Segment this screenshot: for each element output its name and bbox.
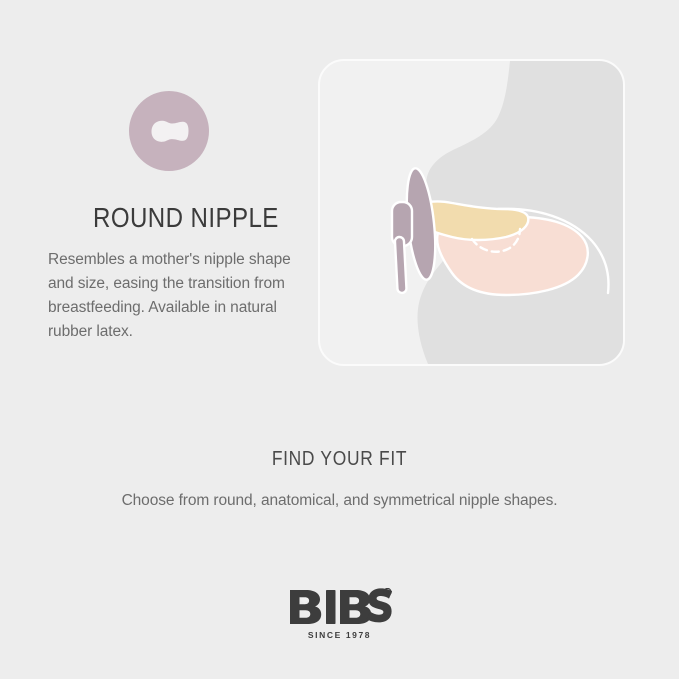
bibs-logo: R SINCE 1978 — [0, 588, 679, 640]
find-your-fit-subtext: Choose from round, anatomical, and symme… — [0, 492, 679, 510]
feature-title: ROUND NIPPLE — [93, 203, 279, 233]
round-nipple-cross-section-icon — [129, 91, 209, 171]
find-your-fit-heading: FIND YOUR FIT — [44, 448, 635, 471]
illustration-card — [318, 59, 625, 366]
heart-icon — [301, 598, 308, 604]
logo-tagline: SINCE 1978 — [308, 630, 371, 640]
feature-description: Resembles a mother's nipple shape and si… — [48, 248, 293, 344]
product-feature-page: ROUND NIPPLE Resembles a mother's nipple… — [0, 0, 679, 679]
bibs-wordmark: R — [288, 588, 392, 626]
